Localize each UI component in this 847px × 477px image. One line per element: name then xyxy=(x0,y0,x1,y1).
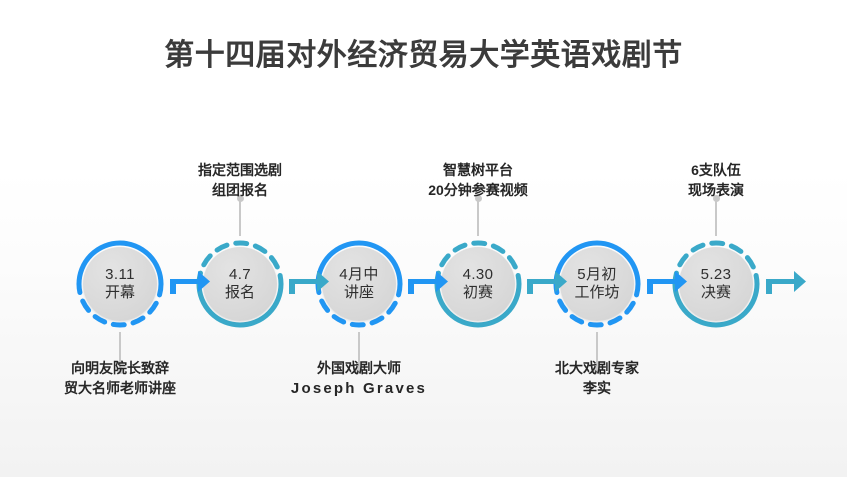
node-label: 工作坊 xyxy=(574,284,619,302)
node-caption-3: 外国戏剧大师Joseph Graves xyxy=(249,358,469,400)
node-disc: 4.7报名 xyxy=(203,247,277,321)
caption-line: 外国戏剧大师 xyxy=(249,358,469,378)
node-disc: 3.11开幕 xyxy=(83,247,157,321)
arrow-1 xyxy=(168,258,212,300)
node-caption-4: 智慧树平台20分钟参赛视频 xyxy=(368,160,588,201)
timeline-node-1[interactable]: 3.11开幕 xyxy=(72,236,168,332)
node-label: 讲座 xyxy=(344,284,374,302)
node-date: 4.7 xyxy=(229,266,251,284)
arrow-6 xyxy=(764,258,808,300)
arrow-4 xyxy=(525,258,569,300)
node-label: 报名 xyxy=(225,284,255,302)
arrow-5 xyxy=(645,258,689,300)
slide-canvas: 第十四届对外经济贸易大学英语戏剧节 3.11开幕向明友院长致辞贸大名师老师讲座4… xyxy=(0,0,847,477)
node-connector-stem xyxy=(477,198,479,236)
caption-line: 北大戏剧专家 xyxy=(487,358,707,378)
caption-line: Joseph Graves xyxy=(249,378,469,400)
caption-line: 贸大名师老师讲座 xyxy=(10,378,230,398)
node-label: 开幕 xyxy=(105,284,135,302)
node-label: 决赛 xyxy=(701,284,731,302)
node-disc: 4月中讲座 xyxy=(322,247,396,321)
node-caption-2: 指定范围选剧组团报名 xyxy=(130,160,350,201)
caption-line: 向明友院长致辞 xyxy=(10,358,230,378)
arrow-2 xyxy=(287,258,331,300)
caption-line: 李实 xyxy=(487,378,707,398)
timeline-diagram: 3.11开幕向明友院长致辞贸大名师老师讲座4.7报名指定范围选剧组团报名4月中讲… xyxy=(0,0,847,477)
node-date: 4.30 xyxy=(463,266,494,284)
caption-line: 组团报名 xyxy=(130,180,350,200)
node-date: 5月初 xyxy=(577,266,617,284)
node-date: 5.23 xyxy=(701,266,732,284)
node-disc: 4.30初赛 xyxy=(441,247,515,321)
caption-line: 6支队伍 xyxy=(606,160,826,180)
node-disc: 5.23决赛 xyxy=(679,247,753,321)
node-disc: 5月初工作坊 xyxy=(560,247,634,321)
caption-line: 智慧树平台 xyxy=(368,160,588,180)
node-date: 4月中 xyxy=(339,266,379,284)
node-caption-6: 6支队伍现场表演 xyxy=(606,160,826,201)
node-caption-1: 向明友院长致辞贸大名师老师讲座 xyxy=(10,358,230,399)
node-label: 初赛 xyxy=(463,284,493,302)
node-connector-stem xyxy=(239,198,241,236)
caption-line: 指定范围选剧 xyxy=(130,160,350,180)
caption-line: 现场表演 xyxy=(606,180,826,200)
arrow-3 xyxy=(406,258,450,300)
caption-line: 20分钟参赛视频 xyxy=(368,180,588,200)
node-caption-5: 北大戏剧专家李实 xyxy=(487,358,707,399)
node-date: 3.11 xyxy=(105,266,135,284)
node-connector-stem xyxy=(715,198,717,236)
